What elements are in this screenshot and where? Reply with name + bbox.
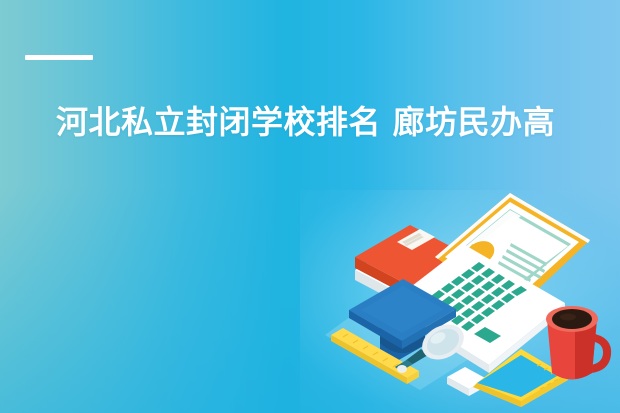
page-title: 河北私立封闭学校排名 廊坊民办高 <box>56 100 616 144</box>
coffee-mug-icon <box>546 306 611 380</box>
accent-rule <box>25 55 93 60</box>
hero-banner: 河北私立封闭学校排名 廊坊民办高 <box>0 0 620 413</box>
isometric-study-desk-illustration <box>325 185 620 413</box>
